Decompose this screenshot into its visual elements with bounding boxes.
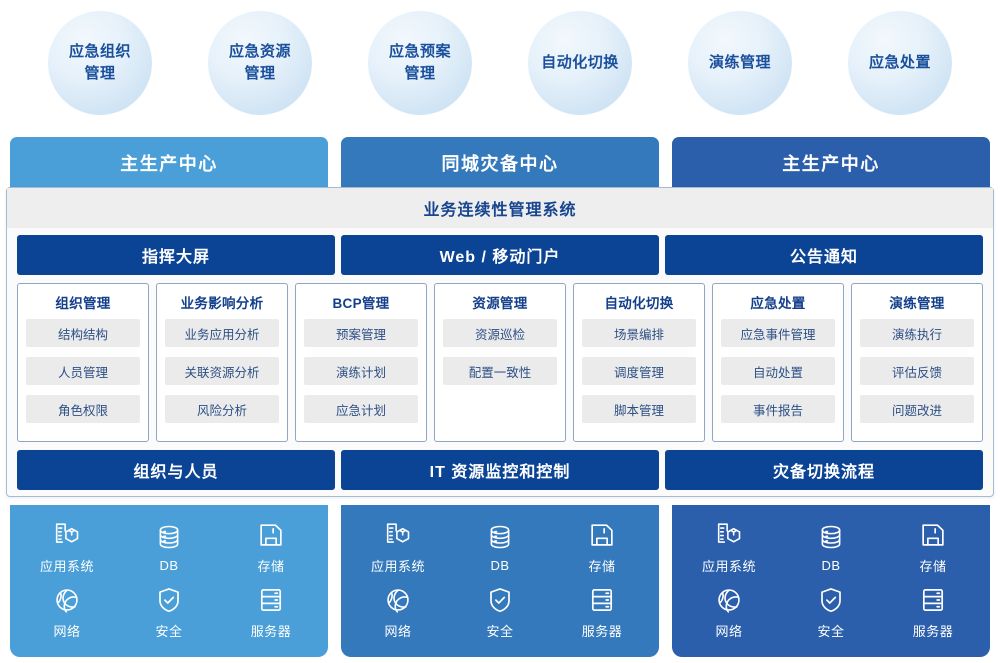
infrastructure-item-label: 安全	[155, 621, 182, 640]
capability-bubble[interactable]: 自动化切换	[528, 11, 632, 115]
infrastructure-panel: 应用系统DB存储网络安全服务器	[10, 505, 328, 657]
module-card-item[interactable]: 配置一致性	[443, 357, 557, 385]
network-icon	[383, 585, 413, 615]
module-card[interactable]: 组织管理结构结构人员管理角色权限	[17, 283, 149, 442]
capability-bubble-label: 管理	[404, 63, 435, 85]
module-card-title: 自动化切换	[582, 292, 696, 312]
bcm-system-panel: 业务连续性管理系统 指挥大屏Web / 移动门户公告通知 组织管理结构结构人员管…	[6, 187, 994, 497]
capability-band[interactable]: 组织与人员	[17, 450, 335, 490]
module-card-title: 业务影响分析	[165, 292, 279, 312]
capability-bubble-label: 管理	[84, 63, 115, 85]
capability-bubble[interactable]: 应急处置	[848, 11, 952, 115]
infrastructure-item[interactable]: 存储	[587, 520, 617, 575]
infrastructure-item[interactable]: DB	[154, 522, 184, 573]
capability-bubble[interactable]: 应急组织管理	[48, 11, 152, 115]
capability-bubble-label: 应急处置	[869, 52, 931, 74]
capability-bubble[interactable]: 演练管理	[688, 11, 792, 115]
module-card[interactable]: 演练管理演练执行评估反馈问题改进	[851, 283, 983, 442]
infrastructure-item-label: 网络	[53, 621, 80, 640]
capability-bubble-label: 应急资源	[229, 41, 291, 63]
module-card-item[interactable]: 结构结构	[26, 319, 140, 347]
infrastructure-item[interactable]: 服务器	[582, 585, 623, 640]
module-card-item[interactable]: 事件报告	[721, 395, 835, 423]
system-title: 业务连续性管理系统	[7, 188, 993, 228]
module-card-title: BCP管理	[304, 292, 418, 312]
infrastructure-item[interactable]: DB	[816, 522, 846, 573]
module-card-item[interactable]: 预案管理	[304, 319, 418, 347]
module-card-title: 组织管理	[26, 292, 140, 312]
infrastructure-item-label: DB	[159, 558, 178, 573]
datacenter-tab[interactable]: 主生产中心	[672, 137, 990, 189]
module-card-row: 组织管理结构结构人员管理角色权限业务影响分析业务应用分析关联资源分析风险分析BC…	[7, 275, 993, 442]
infrastructure-item-label: 存储	[919, 556, 946, 575]
datacenter-tab[interactable]: 同城灾备中心	[341, 137, 659, 189]
infrastructure-item[interactable]: 存储	[256, 520, 286, 575]
infrastructure-item-label: 安全	[486, 621, 513, 640]
channel-band[interactable]: Web / 移动门户	[341, 235, 659, 275]
infrastructure-item-label: 服务器	[582, 621, 623, 640]
infrastructure-item-label: DB	[490, 558, 509, 573]
top-band-row: 指挥大屏Web / 移动门户公告通知	[7, 235, 993, 275]
module-card-item[interactable]: 资源巡检	[443, 319, 557, 347]
capability-bubble-label: 演练管理	[709, 52, 771, 74]
infrastructure-item[interactable]: 网络	[714, 585, 744, 640]
capability-bubble[interactable]: 应急预案管理	[368, 11, 472, 115]
module-card-item[interactable]: 应急事件管理	[721, 319, 835, 347]
infrastructure-item-label: 应用系统	[371, 556, 425, 575]
channel-band[interactable]: 公告通知	[665, 235, 983, 275]
datacenter-tab-row: 主生产中心同城灾备中心主生产中心	[10, 137, 990, 189]
capability-bubble-label: 自动化切换	[541, 52, 619, 74]
server-icon	[918, 585, 948, 615]
infrastructure-item[interactable]: 应用系统	[40, 520, 94, 575]
capability-bubble-label: 管理	[244, 63, 275, 85]
module-card[interactable]: 资源管理资源巡检配置一致性	[434, 283, 566, 442]
security-icon	[485, 585, 515, 615]
app-system-icon	[714, 520, 744, 550]
module-card-item[interactable]: 业务应用分析	[165, 319, 279, 347]
module-card-item[interactable]: 角色权限	[26, 395, 140, 423]
capability-bubble-label: 应急组织	[69, 41, 131, 63]
infrastructure-item[interactable]: 存储	[918, 520, 948, 575]
infrastructure-item[interactable]: 服务器	[251, 585, 292, 640]
infrastructure-item[interactable]: 安全	[485, 585, 515, 640]
infrastructure-item-label: 安全	[817, 621, 844, 640]
infrastructure-item[interactable]: 网络	[52, 585, 82, 640]
module-card-item[interactable]: 演练计划	[304, 357, 418, 385]
capability-band[interactable]: 灾备切换流程	[665, 450, 983, 490]
infrastructure-item-label: 存储	[588, 556, 615, 575]
module-card-item[interactable]: 关联资源分析	[165, 357, 279, 385]
capability-band[interactable]: IT 资源监控和控制	[341, 450, 659, 490]
app-system-icon	[383, 520, 413, 550]
module-card-item[interactable]: 演练执行	[860, 319, 974, 347]
channel-band[interactable]: 指挥大屏	[17, 235, 335, 275]
infrastructure-item-label: 网络	[715, 621, 742, 640]
database-icon	[816, 522, 846, 552]
bottom-band-row: 组织与人员IT 资源监控和控制灾备切换流程	[7, 450, 993, 490]
infrastructure-item[interactable]: 网络	[383, 585, 413, 640]
module-card-item[interactable]: 脚本管理	[582, 395, 696, 423]
module-card-title: 资源管理	[443, 292, 557, 312]
architecture-diagram: 应急组织管理应急资源管理应急预案管理自动化切换演练管理应急处置 主生产中心同城灾…	[0, 0, 1000, 663]
module-card-item[interactable]: 自动处置	[721, 357, 835, 385]
security-icon	[816, 585, 846, 615]
module-card[interactable]: 业务影响分析业务应用分析关联资源分析风险分析	[156, 283, 288, 442]
infrastructure-panel-row: 应用系统DB存储网络安全服务器应用系统DB存储网络安全服务器应用系统DB存储网络…	[10, 505, 990, 657]
infrastructure-item-label: 应用系统	[702, 556, 756, 575]
capability-bubble-label: 应急预案	[389, 41, 451, 63]
infrastructure-item[interactable]: 应用系统	[371, 520, 425, 575]
infrastructure-panel: 应用系统DB存储网络安全服务器	[672, 505, 990, 657]
datacenter-tab[interactable]: 主生产中心	[10, 137, 328, 189]
module-card-item[interactable]: 场景编排	[582, 319, 696, 347]
capability-bubble[interactable]: 应急资源管理	[208, 11, 312, 115]
module-card-item[interactable]: 应急计划	[304, 395, 418, 423]
module-card[interactable]: 应急处置应急事件管理自动处置事件报告	[712, 283, 844, 442]
module-card-item[interactable]: 风险分析	[165, 395, 279, 423]
server-icon	[587, 585, 617, 615]
module-card-item[interactable]: 调度管理	[582, 357, 696, 385]
database-icon	[154, 522, 184, 552]
infrastructure-item-label: 服务器	[913, 621, 954, 640]
infrastructure-item-label: DB	[821, 558, 840, 573]
infrastructure-item-label: 网络	[384, 621, 411, 640]
infrastructure-item-label: 服务器	[251, 621, 292, 640]
server-icon	[256, 585, 286, 615]
infrastructure-item[interactable]: 服务器	[913, 585, 954, 640]
database-icon	[485, 522, 515, 552]
storage-icon	[256, 520, 286, 550]
capability-bubble-row: 应急组织管理应急资源管理应急预案管理自动化切换演练管理应急处置	[0, 0, 1000, 125]
network-icon	[52, 585, 82, 615]
network-icon	[714, 585, 744, 615]
module-card[interactable]: BCP管理预案管理演练计划应急计划	[295, 283, 427, 442]
storage-icon	[918, 520, 948, 550]
infrastructure-item[interactable]: 应用系统	[702, 520, 756, 575]
infrastructure-item[interactable]: DB	[485, 522, 515, 573]
module-card-title: 演练管理	[860, 292, 974, 312]
infrastructure-item[interactable]: 安全	[816, 585, 846, 640]
module-card[interactable]: 自动化切换场景编排调度管理脚本管理	[573, 283, 705, 442]
app-system-icon	[52, 520, 82, 550]
storage-icon	[587, 520, 617, 550]
infrastructure-item[interactable]: 安全	[154, 585, 184, 640]
module-card-item[interactable]: 问题改进	[860, 395, 974, 423]
security-icon	[154, 585, 184, 615]
module-card-item[interactable]: 人员管理	[26, 357, 140, 385]
infrastructure-panel: 应用系统DB存储网络安全服务器	[341, 505, 659, 657]
infrastructure-item-label: 应用系统	[40, 556, 94, 575]
module-card-item[interactable]: 评估反馈	[860, 357, 974, 385]
infrastructure-item-label: 存储	[257, 556, 284, 575]
module-card-title: 应急处置	[721, 292, 835, 312]
